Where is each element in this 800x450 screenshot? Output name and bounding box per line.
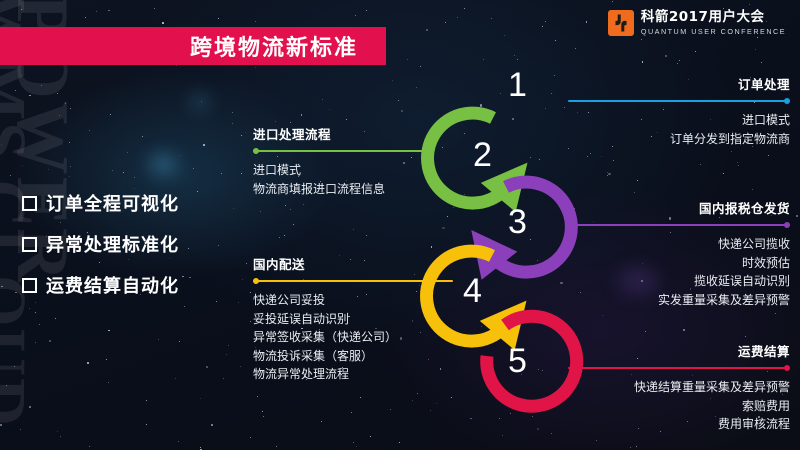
step-item: 快递公司揽收: [568, 235, 790, 254]
step-item: 进口模式: [568, 111, 790, 130]
nebula-glow-blue: [192, 96, 208, 108]
step-rule-5: [568, 367, 790, 369]
step-rule-dot-4: [253, 278, 259, 284]
logo-title-en: QUANTUM USER CONFERENCE: [641, 28, 786, 35]
step-item: 物流投诉采集（客服）: [253, 347, 453, 366]
step-heading-5: 运费结算: [568, 341, 790, 360]
page-title: 跨境物流新标准: [190, 30, 358, 62]
step-number-2: 2: [473, 136, 492, 175]
step-rule-dot-2: [253, 148, 259, 154]
step-heading-2: 进口处理流程: [253, 124, 431, 143]
logo-wordmark: 科箭2017用户大会 QUANTUM USER CONFERENCE: [641, 11, 786, 36]
step-rule-1: [568, 100, 790, 102]
step-heading-1: 订单处理: [568, 74, 790, 93]
list-item: 运费结算自动化: [22, 272, 179, 298]
step-heading-3: 国内报税仓发货: [568, 198, 790, 217]
step-item: 揽收延误自动识别: [568, 272, 790, 291]
step-rule-4: [253, 280, 453, 282]
step-heading-4: 国内配送: [253, 254, 453, 273]
step-item: 异常签收采集（快递公司）: [253, 328, 453, 347]
step-item: 快递公司妥投: [253, 291, 453, 310]
nebula-glow-teal: [150, 155, 176, 173]
ring-step-3: [491, 182, 571, 272]
list-item: 订单全程可视化: [22, 190, 179, 216]
step-item: 进口模式: [253, 161, 431, 180]
step-rule-dot-5: [784, 365, 790, 371]
step-item: 索赔费用: [568, 397, 790, 416]
ring-step-2: [428, 113, 507, 203]
step-item: 物流异常处理流程: [253, 365, 453, 384]
list-item-label: 订单全程可视化: [46, 190, 179, 216]
key-benefits-list: 订单全程可视化 异常处理标准化 运费结算自动化: [22, 190, 179, 313]
step-number-5: 5: [508, 342, 527, 381]
ring-step-5: [487, 316, 577, 406]
step-item: 时效预估: [568, 254, 790, 273]
list-item-label: 运费结算自动化: [46, 272, 179, 298]
step-number-4: 4: [463, 272, 482, 311]
step-item: 订单分发到指定物流商: [568, 130, 790, 149]
logo-title-cn: 科箭2017用户大会: [641, 11, 786, 25]
conference-logo: 科箭2017用户大会 QUANTUM USER CONFERENCE: [608, 10, 786, 36]
step-block-1: 订单处理 进口模式 订单分发到指定物流商: [568, 74, 790, 148]
slide-canvas: POWER WMS CLOUD 跨境物流新标准 科箭2017用户大会 QUANT…: [0, 0, 800, 450]
hollow-square-icon: [22, 237, 37, 252]
step-item: 费用审核流程: [568, 415, 790, 434]
hollow-square-icon: [22, 196, 37, 211]
list-item-label: 异常处理标准化: [46, 231, 179, 257]
hollow-square-icon: [22, 278, 37, 293]
step-block-4: 国内配送 快递公司妥投 妥投延误自动识别 异常签收采集（快递公司） 物流投诉采集…: [253, 254, 453, 384]
title-banner: 跨境物流新标准: [0, 27, 386, 65]
step-rule-2: [253, 150, 431, 152]
step-item: 快递结算重量采集及差异预警: [568, 378, 790, 397]
step-block-3: 国内报税仓发货 快递公司揽收 时效预估 揽收延误自动识别 实发重量采集及差异预警: [568, 198, 790, 309]
step-number-1: 1: [508, 66, 527, 105]
step-item: 实发重量采集及差异预警: [568, 291, 790, 310]
step-item: 妥投延误自动识别: [253, 310, 453, 329]
step-block-5: 运费结算 快递结算重量采集及差异预警 索赔费用 费用审核流程: [568, 341, 790, 434]
step-rule-dot-1: [784, 98, 790, 104]
step-rule-dot-3: [784, 222, 790, 228]
quantum-s-logo-icon: [608, 10, 634, 36]
step-item: 物流商填报进口流程信息: [253, 180, 431, 199]
step-rule-3: [568, 224, 790, 226]
step-number-3: 3: [508, 203, 527, 242]
list-item: 异常处理标准化: [22, 231, 179, 257]
step-block-2: 进口处理流程 进口模式 物流商填报进口流程信息: [253, 124, 431, 198]
